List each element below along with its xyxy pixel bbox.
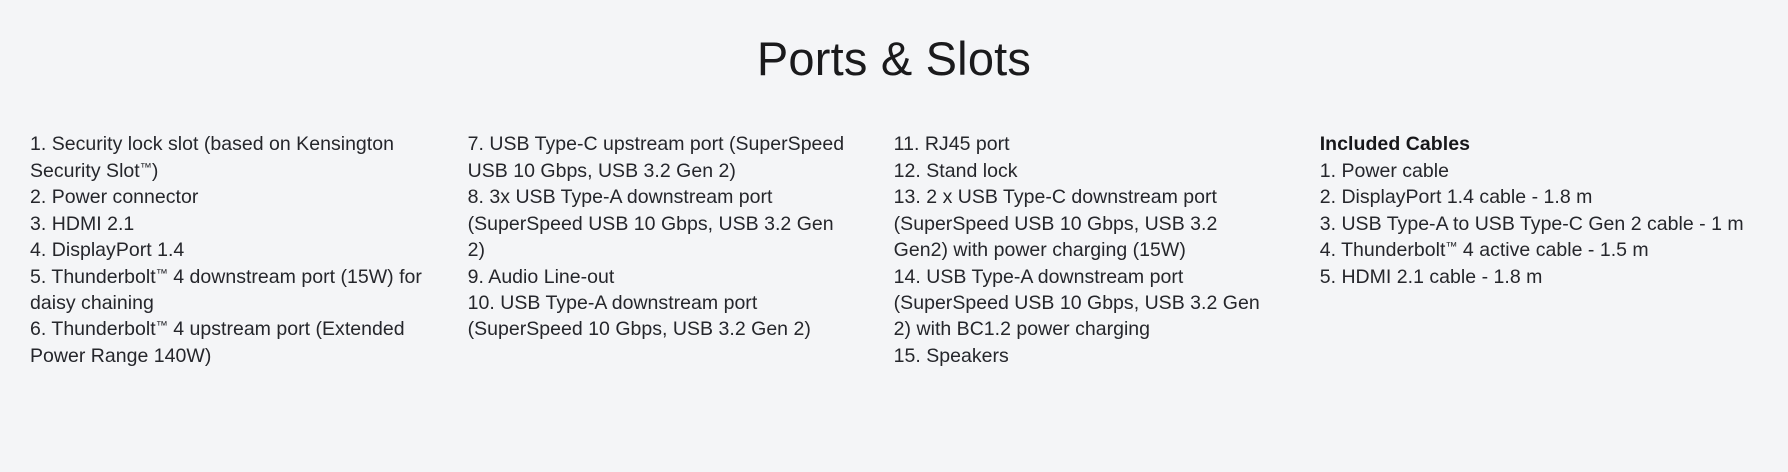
list-item: 1. Security lock slot (based on Kensingt…: [30, 131, 424, 184]
list-item: 7. USB Type-C upstream port (SuperSpeed …: [468, 131, 850, 184]
list-item: 13. 2 x USB Type-C downstream port (Supe…: [894, 184, 1276, 263]
ports-column-2: 7. USB Type-C upstream port (SuperSpeed …: [468, 131, 894, 342]
list-item: 11. RJ45 port: [894, 131, 1276, 157]
list-item: 15. Speakers: [894, 343, 1276, 369]
list-item: 2. Power connector: [30, 184, 424, 210]
list-item: 12. Stand lock: [894, 158, 1276, 184]
ports-column-1: 1. Security lock slot (based on Kensingt…: [30, 131, 468, 369]
trademark-symbol: ™: [140, 160, 152, 174]
included-cables-column: Included Cables 1. Power cable 2. Displa…: [1320, 131, 1760, 290]
page-title: Ports & Slots: [0, 0, 1788, 86]
list-item: 9. Audio Line-out: [468, 264, 850, 290]
trademark-symbol: ™: [1445, 240, 1457, 254]
list-item: 10. USB Type-A downstream port (SuperSpe…: [468, 290, 850, 343]
list-item: 5. HDMI 2.1 cable - 1.8 m: [1320, 264, 1750, 290]
list-item: 3. HDMI 2.1: [30, 211, 424, 237]
ports-and-slots-page: Ports & Slots 1. Security lock slot (bas…: [0, 0, 1788, 472]
ports-list-3: 11. RJ45 port 12. Stand lock 13. 2 x USB…: [894, 131, 1276, 369]
ports-list-2: 7. USB Type-C upstream port (SuperSpeed …: [468, 131, 850, 342]
list-item: 5. Thunderbolt™ 4 downstream port (15W) …: [30, 264, 424, 317]
list-item: 1. Power cable: [1320, 158, 1750, 184]
included-cables-list: 1. Power cable 2. DisplayPort 1.4 cable …: [1320, 158, 1750, 290]
ports-column-3: 11. RJ45 port 12. Stand lock 13. 2 x USB…: [894, 131, 1320, 369]
list-item: 6. Thunderbolt™ 4 upstream port (Extende…: [30, 316, 424, 369]
ports-list-1: 1. Security lock slot (based on Kensingt…: [30, 131, 424, 369]
specs-columns: 1. Security lock slot (based on Kensingt…: [0, 131, 1788, 369]
trademark-symbol: ™: [156, 319, 168, 333]
list-item: 2. DisplayPort 1.4 cable - 1.8 m: [1320, 184, 1750, 210]
list-item: 3. USB Type-A to USB Type-C Gen 2 cable …: [1320, 211, 1750, 237]
list-item: 4. DisplayPort 1.4: [30, 237, 424, 263]
included-cables-heading: Included Cables: [1320, 131, 1750, 158]
list-item: 14. USB Type-A downstream port (SuperSpe…: [894, 264, 1276, 343]
trademark-symbol: ™: [156, 266, 168, 280]
list-item: 8. 3x USB Type-A downstream port (SuperS…: [468, 184, 850, 263]
list-item: 4. Thunderbolt™ 4 active cable - 1.5 m: [1320, 237, 1750, 263]
